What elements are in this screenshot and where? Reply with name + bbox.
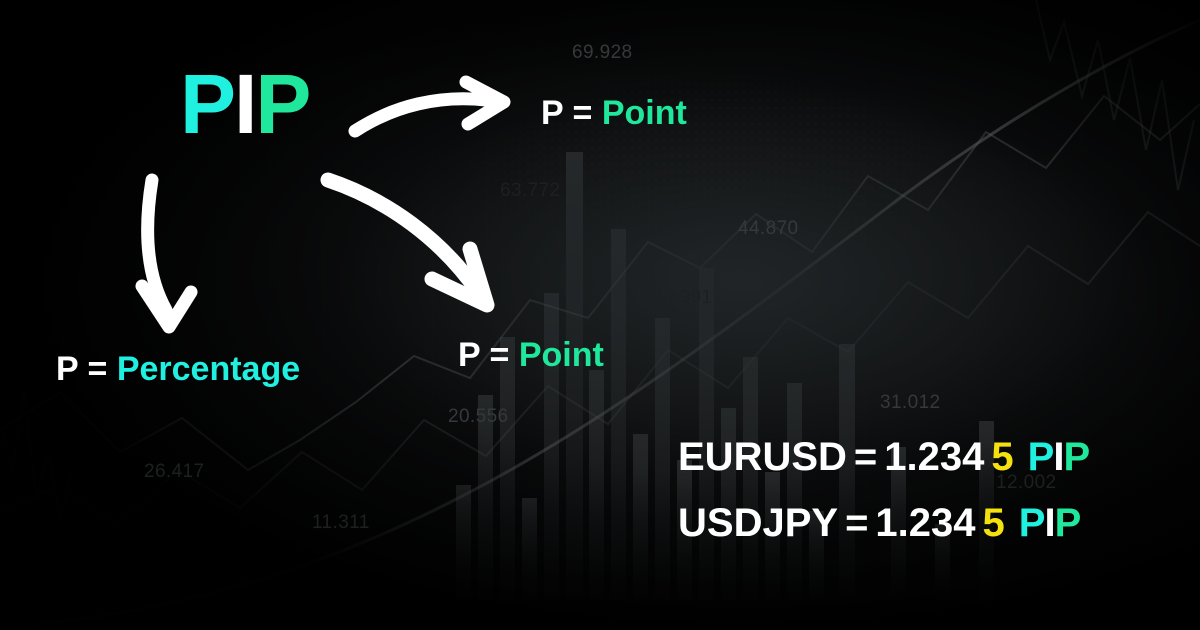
pair-pip-logo-p1: P	[1028, 435, 1054, 479]
pip-logo-p2: P	[255, 57, 309, 151]
pair-pip-logo-i: I	[1053, 435, 1063, 479]
label-point-mid-prefix: P =	[458, 336, 519, 374]
pair-pip-digit: 5	[991, 435, 1013, 479]
pair-equals: =	[854, 435, 877, 479]
pip-logo-i: I	[234, 57, 255, 151]
arrow-to-point-top-icon	[355, 82, 504, 131]
pair-example-eurusd: EURUSD=1.2345PIP	[678, 437, 1089, 477]
pair-example-usdjpy: USDJPY=1.2345PIP	[678, 503, 1080, 543]
pair-base-value: 1.234	[884, 435, 984, 479]
pair-base-value: 1.234	[875, 501, 975, 545]
label-point-mid: P = Point	[458, 338, 604, 372]
pair-pip-logo: PIP	[1028, 435, 1090, 479]
pip-logo: PIP	[180, 62, 309, 146]
pair-symbol: USDJPY	[678, 501, 838, 545]
pair-pip-logo-p2: P	[1063, 435, 1089, 479]
label-point-top-term: Point	[602, 94, 687, 132]
label-point-top-prefix: P =	[541, 94, 602, 132]
label-percentage: P = Percentage	[56, 352, 300, 386]
pair-pip-logo: PIP	[1019, 501, 1081, 545]
arrow-to-percentage-icon	[142, 180, 191, 327]
label-percentage-prefix: P =	[56, 350, 117, 388]
pair-pip-logo-p2: P	[1055, 501, 1081, 545]
pair-equals: =	[845, 501, 868, 545]
arrow-to-point-mid-icon	[328, 180, 487, 305]
label-point-top: P = Point	[541, 96, 687, 130]
pair-symbol: EURUSD	[678, 435, 847, 479]
pip-logo-p1: P	[180, 57, 234, 151]
infographic-canvas: 69.928 63.772 44.870 48.991 20.556 31.01…	[0, 0, 1200, 630]
pair-pip-logo-i: I	[1044, 501, 1054, 545]
label-point-mid-term: Point	[519, 336, 604, 374]
pair-pip-digit: 5	[983, 501, 1005, 545]
label-percentage-term: Percentage	[117, 350, 300, 388]
pair-pip-logo-p1: P	[1019, 501, 1045, 545]
